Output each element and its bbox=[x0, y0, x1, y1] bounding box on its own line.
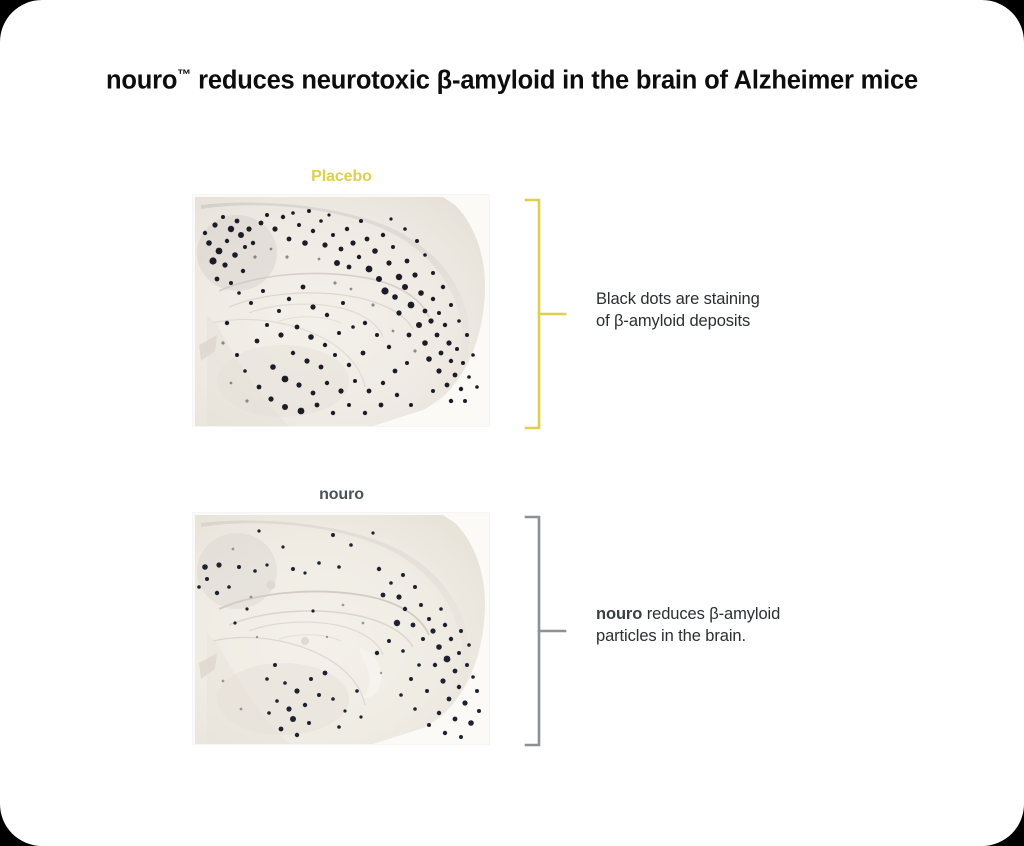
micrograph-nouro bbox=[193, 513, 489, 744]
page-title-rest: reduces neurotoxic β-amyloid in the brai… bbox=[191, 67, 918, 95]
panel-placebo: Placebo bbox=[193, 168, 490, 426]
caption-placebo-line2: of β-amyloid deposits bbox=[596, 312, 750, 330]
infographic-page: nouro™ reduces neurotoxic β-amyloid in t… bbox=[0, 0, 1024, 846]
panel-label-placebo: Placebo bbox=[193, 168, 490, 186]
page-title-brand: nouro bbox=[106, 67, 177, 95]
micrograph-nouro-svg bbox=[193, 513, 489, 744]
caption-placebo: Black dots are staining of β-amyloid dep… bbox=[596, 289, 866, 333]
micrograph-placebo-svg bbox=[193, 195, 489, 426]
bracket-placebo bbox=[525, 198, 565, 430]
trademark-icon: ™ bbox=[177, 66, 191, 82]
caption-nouro-line1: reduces β-amyloid bbox=[647, 605, 780, 623]
caption-nouro-brand: nouro bbox=[596, 605, 642, 623]
panel-label-nouro: nouro bbox=[193, 486, 490, 504]
caption-placebo-line1: Black dots are staining bbox=[596, 290, 760, 308]
panel-nouro: nouro bbox=[193, 486, 490, 744]
caption-nouro: nouro reduces β-amyloid particles in the… bbox=[596, 604, 866, 648]
page-title: nouro™ reduces neurotoxic β-amyloid in t… bbox=[0, 66, 1024, 96]
caption-nouro-line2: particles in the brain. bbox=[596, 627, 746, 645]
bracket-nouro bbox=[525, 515, 565, 747]
micrograph-placebo bbox=[193, 195, 489, 426]
